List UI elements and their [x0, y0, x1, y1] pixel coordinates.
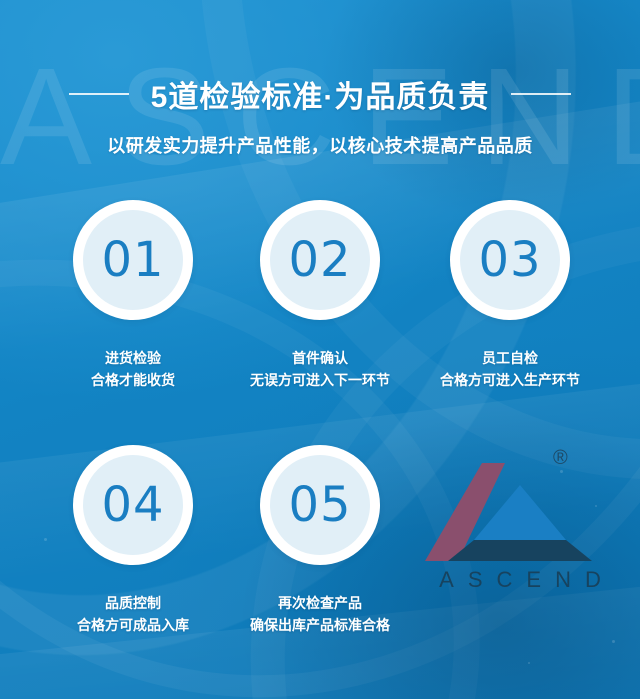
step-circle-inner-04: 04 [83, 455, 183, 555]
background-speck [612, 640, 615, 643]
step-number-05: 05 [288, 481, 351, 529]
registered-trademark-icon: ® [553, 447, 568, 470]
step-caption-line2: 合格才能收货 [33, 370, 233, 392]
step-caption-02: 首件确认 无误方可进入下一环节 [220, 348, 420, 391]
step-caption-05: 再次检查产品 确保出库产品标准合格 [220, 593, 420, 636]
step-circle-inner-03: 03 [460, 210, 560, 310]
step-circle-01: 01 [73, 200, 193, 320]
step-caption-line2: 无误方可进入下一环节 [220, 370, 420, 392]
logo-navy-base [448, 540, 592, 561]
step-caption-line1: 员工自检 [410, 348, 610, 370]
step-number-04: 04 [101, 481, 164, 529]
step-number-03: 03 [478, 236, 541, 284]
step-circle-05: 05 [260, 445, 380, 565]
step-circle-03: 03 [450, 200, 570, 320]
ascend-logo-mark [420, 443, 620, 573]
step-caption-01: 进货检验 合格才能收货 [33, 348, 233, 391]
step-circle-inner-02: 02 [270, 210, 370, 310]
step-caption-line1: 进货检验 [33, 348, 233, 370]
step-caption-line1: 品质控制 [33, 593, 233, 615]
step-circle-inner-01: 01 [83, 210, 183, 310]
step-caption-line2: 合格方可成品入库 [33, 615, 233, 637]
step-circle-04: 04 [73, 445, 193, 565]
promo-banner: ASCEND 5道检验标准·为品质负责 以研发实力提升产品性能，以核心技术提高产… [0, 0, 640, 699]
page-title: 5道检验标准·为品质负责 [151, 72, 490, 116]
step-caption-line2: 合格方可进入生产环节 [410, 370, 610, 392]
step-caption-04: 品质控制 合格方可成品入库 [33, 593, 233, 636]
step-item-02: 02 首件确认 无误方可进入下一环节 [220, 200, 420, 391]
title-rule-left [69, 93, 129, 95]
step-item-04: 04 品质控制 合格方可成品入库 [33, 445, 233, 636]
step-caption-03: 员工自检 合格方可进入生产环节 [410, 348, 610, 391]
step-caption-line1: 再次检查产品 [220, 593, 420, 615]
step-caption-line1: 首件确认 [220, 348, 420, 370]
step-item-01: 01 进货检验 合格才能收货 [33, 200, 233, 391]
step-caption-line2: 确保出库产品标准合格 [220, 615, 420, 637]
step-item-05: 05 再次检查产品 确保出库产品标准合格 [220, 445, 420, 636]
background-speck [528, 662, 530, 664]
ascend-logo: ® ASCEND [420, 443, 620, 593]
step-item-03: 03 员工自检 合格方可进入生产环节 [410, 200, 610, 391]
banner-header: 5道检验标准·为品质负责 以研发实力提升产品性能，以核心技术提高产品品质 [0, 0, 640, 158]
title-row: 5道检验标准·为品质负责 [0, 72, 640, 116]
step-circle-inner-05: 05 [270, 455, 370, 555]
step-circle-02: 02 [260, 200, 380, 320]
page-subtitle: 以研发实力提升产品性能，以核心技术提高产品品质 [0, 132, 640, 158]
step-number-01: 01 [101, 236, 164, 284]
logo-wordmark: ASCEND [420, 567, 620, 593]
title-rule-right [511, 93, 571, 95]
step-number-02: 02 [288, 236, 351, 284]
